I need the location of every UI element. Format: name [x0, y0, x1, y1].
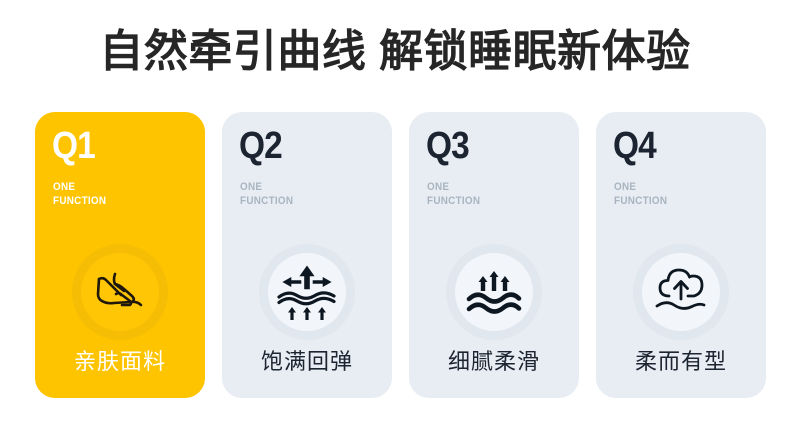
card-label: 亲肤面料	[35, 348, 205, 376]
card-subtitle-line1: ONE	[53, 180, 106, 194]
card-tag: Q1	[52, 124, 95, 168]
feature-card-q4[interactable]: Q4 ONE FUNCTION 柔而有型	[596, 112, 766, 398]
card-icon-medallion-inner	[642, 253, 720, 331]
card-icon-medallion	[446, 244, 542, 340]
card-icon-medallion-inner	[268, 253, 346, 331]
card-label: 细腻柔滑	[409, 348, 579, 376]
card-label: 柔而有型	[596, 348, 766, 376]
card-icon-medallion-inner	[81, 253, 159, 331]
card-icon-medallion	[72, 244, 168, 340]
feature-card-q1[interactable]: Q1 ONE FUNCTION	[35, 112, 205, 398]
card-subtitle: ONE FUNCTION	[240, 180, 293, 208]
card-subtitle: ONE FUNCTION	[427, 180, 480, 208]
card-subtitle-line1: ONE	[427, 180, 480, 194]
card-icon-medallion-inner	[455, 253, 533, 331]
feature-card-q3[interactable]: Q3 ONE FUNCTION	[409, 112, 579, 398]
card-subtitle-line2: FUNCTION	[427, 194, 480, 208]
card-subtitle-line1: ONE	[240, 180, 293, 194]
hand-touch-fabric-icon	[91, 266, 149, 318]
card-subtitle: ONE FUNCTION	[53, 180, 106, 208]
card-icon-medallion	[633, 244, 729, 340]
card-subtitle-line2: FUNCTION	[240, 194, 293, 208]
card-subtitle-line2: FUNCTION	[53, 194, 106, 208]
page-title: 自然牵引曲线 解锁睡眠新体验	[0, 24, 790, 80]
promo-feature-panel: 自然牵引曲线 解锁睡眠新体验 Q1 ONE FUNCTION	[0, 0, 790, 426]
card-tag: Q2	[239, 124, 282, 168]
feature-card-row: Q1 ONE FUNCTION	[35, 112, 755, 398]
cloud-lift-icon	[652, 266, 710, 318]
card-icon-medallion	[259, 244, 355, 340]
card-label: 饱满回弹	[222, 348, 392, 376]
rebound-arrows-wave-icon	[276, 263, 338, 321]
breathable-waves-icon	[465, 269, 523, 315]
card-subtitle: ONE FUNCTION	[614, 180, 667, 208]
card-subtitle-line2: FUNCTION	[614, 194, 667, 208]
card-tag: Q4	[613, 124, 656, 168]
card-tag: Q3	[426, 124, 469, 168]
feature-card-q2[interactable]: Q2 ONE FUNCTION	[222, 112, 392, 398]
card-subtitle-line1: ONE	[614, 180, 667, 194]
